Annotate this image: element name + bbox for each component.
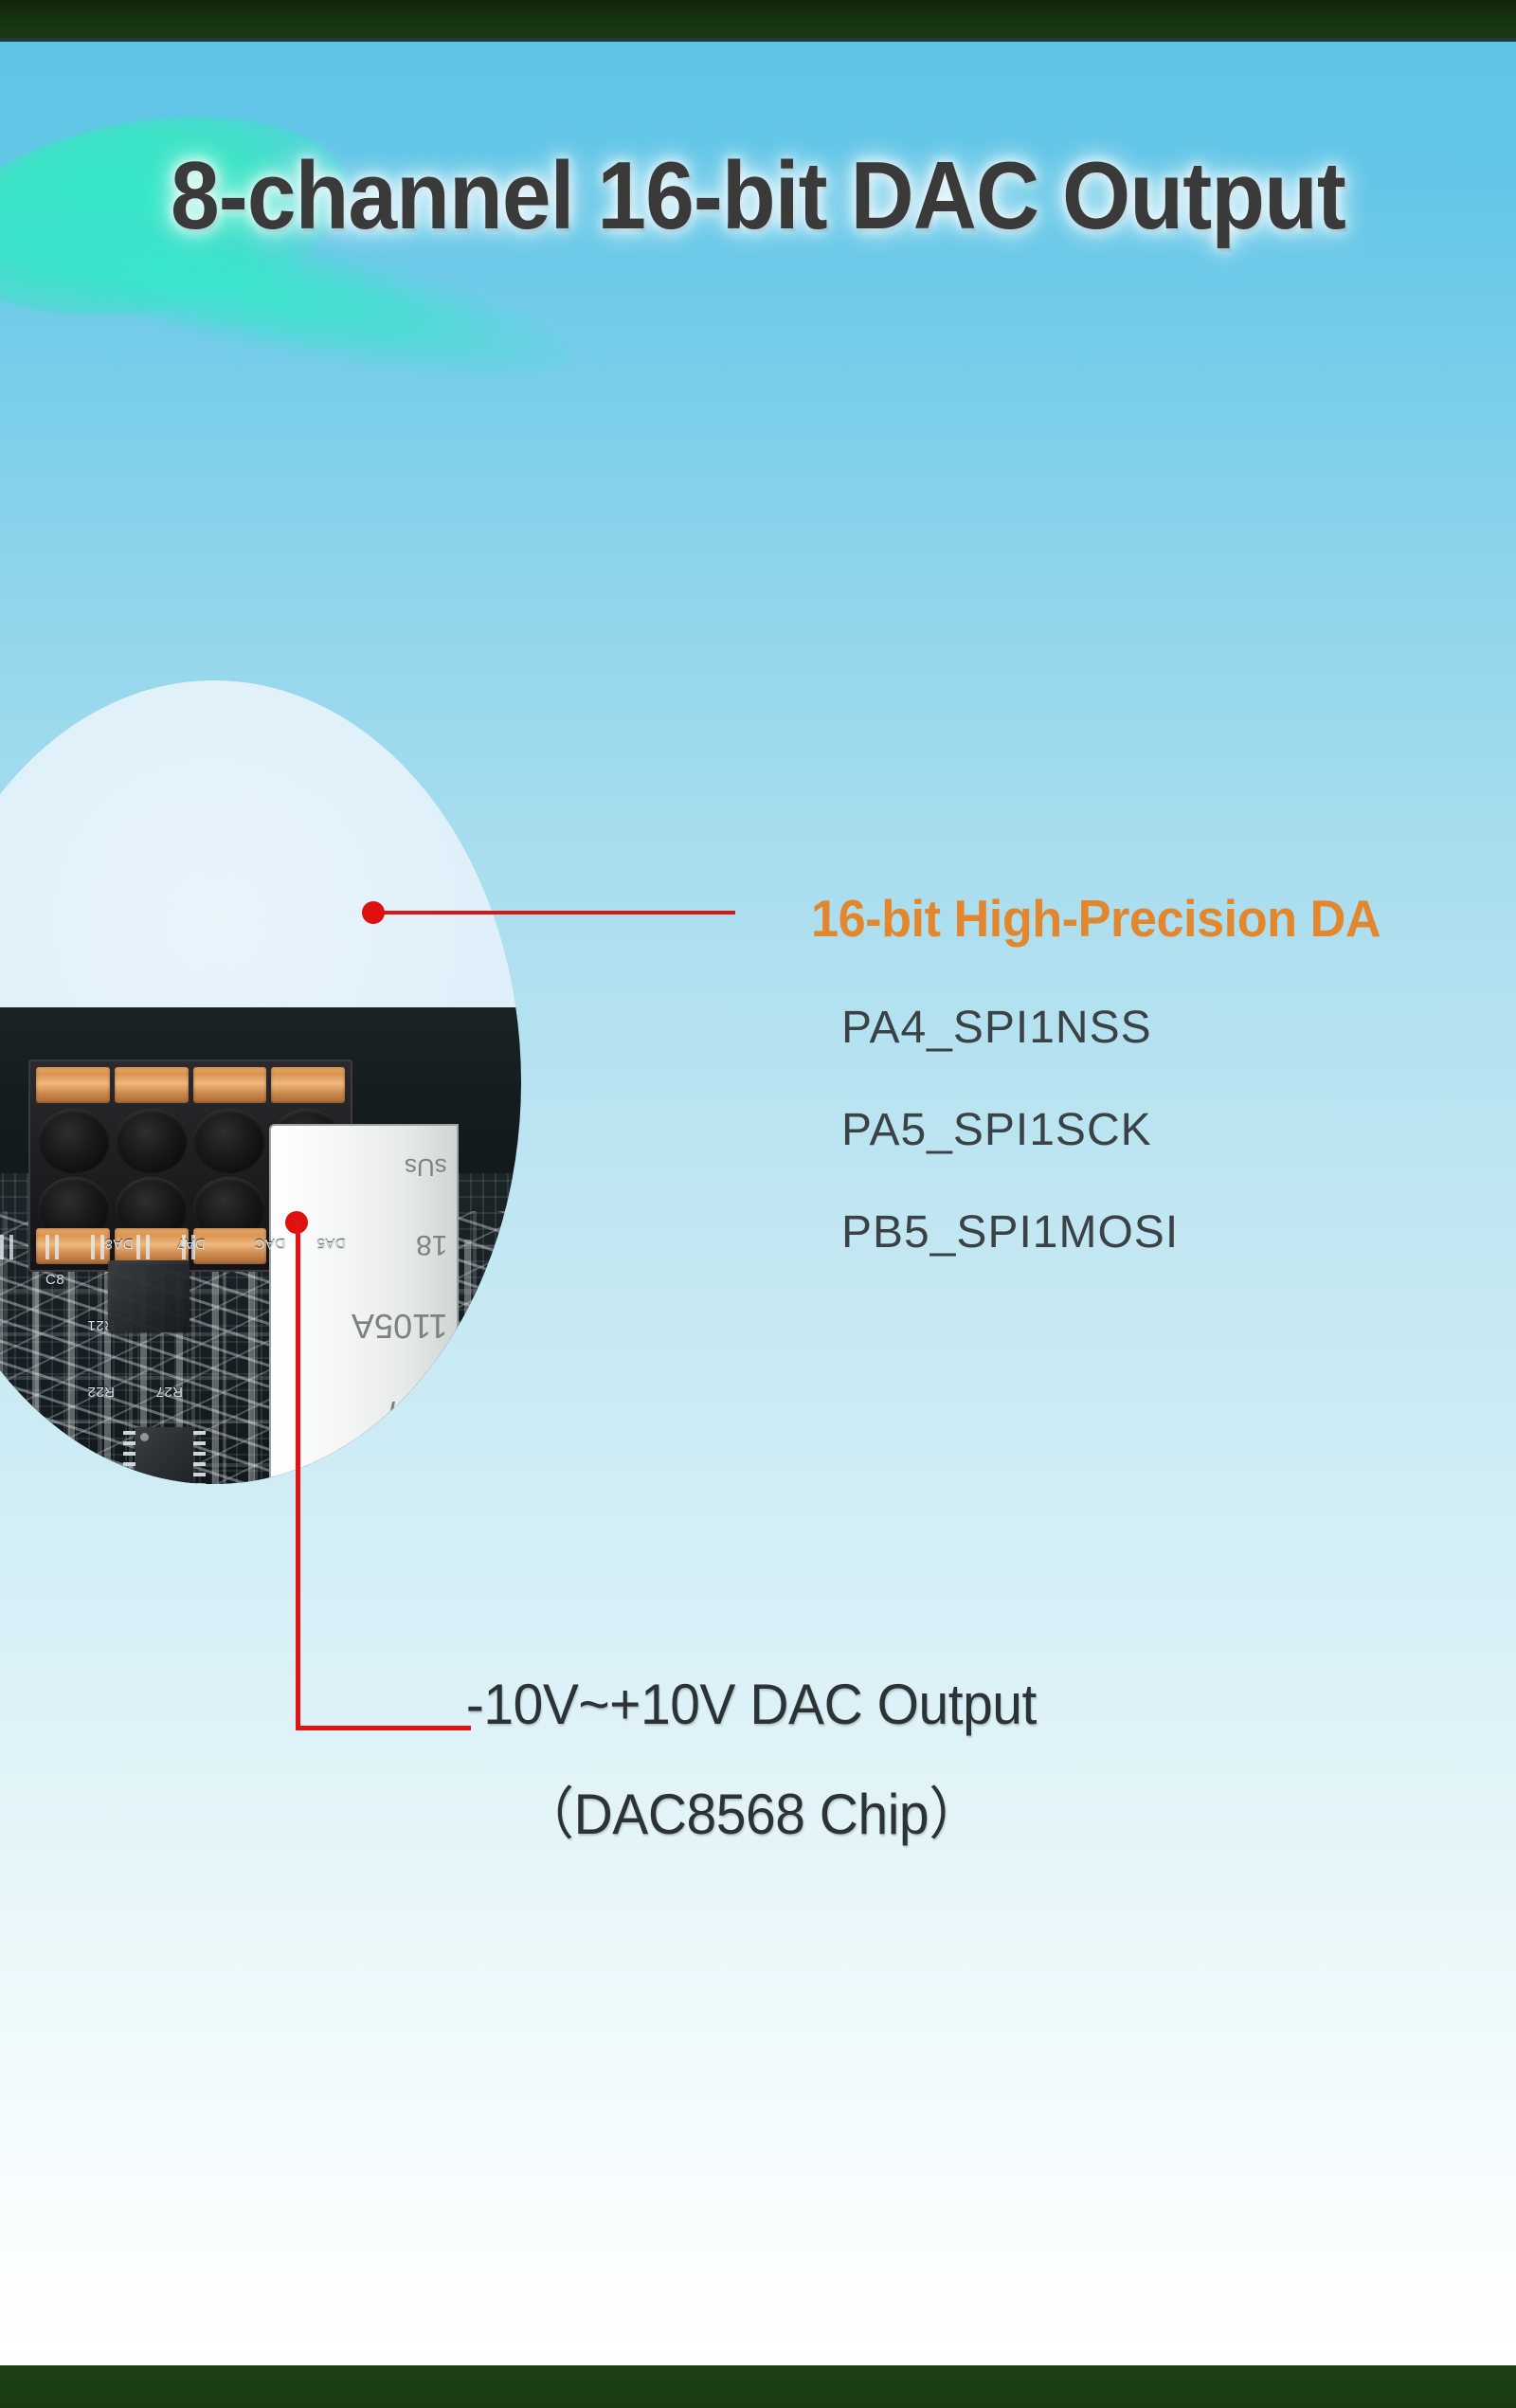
relay-label-line1: sUs: [405, 1152, 447, 1182]
caption-dac-output-range: -10V~+10V DAC Output: [38, 1672, 1478, 1737]
terminal-screw: [115, 1067, 189, 1103]
pcb-photo-circle: sUs 18 1105A Run PWROUT DA8 DA7 DAC DA5 …: [0, 680, 521, 1484]
silk-ref-designator: R27: [155, 1384, 183, 1400]
silk-ref-designator: C8: [45, 1272, 64, 1288]
caption-dac-chip-text: （DAC8568 Chip）: [520, 1768, 983, 1851]
smd-chip-soic: [108, 1260, 189, 1332]
silk-header-label: DA5: [316, 1236, 346, 1252]
terminal-wire-hole: [116, 1109, 188, 1173]
terminal-screw: [271, 1067, 345, 1103]
silk-header-label: DA7: [176, 1236, 206, 1252]
terminal-wire-hole: [38, 1109, 110, 1173]
promo-banner-page: 8-channel 16-bit DAC Output: [0, 0, 1516, 2408]
smd-chip-leads: [123, 1431, 135, 1484]
relay-label-line4: Run: [388, 1393, 447, 1430]
pin-label-pa5: PA5_SPI1SCK: [841, 1104, 1152, 1156]
top-band-divider: [0, 38, 1516, 42]
smd-chip-qfn: [0, 1401, 9, 1484]
relay-label-line2: 18: [416, 1228, 447, 1260]
relay-label-line3: 1105A: [352, 1306, 447, 1346]
terminal-screw: [36, 1067, 110, 1103]
silk-header-label: DA8: [104, 1236, 134, 1252]
dac8568-chip: [135, 1427, 193, 1484]
terminal-screw: [193, 1067, 267, 1103]
silk-header-label: DAC: [254, 1236, 285, 1252]
terminal-screw-row-top: [36, 1067, 345, 1103]
caption-dac-chip: （DAC8568 Chip）: [38, 1768, 1478, 1851]
terminal-wire-hole: [193, 1109, 265, 1173]
smd-chip-leads: [193, 1431, 206, 1484]
callout-anchor-dot: [362, 901, 385, 924]
page-title: 8-channel 16-bit DAC Output: [61, 142, 1455, 251]
callout-leader-line-horizontal: [375, 911, 735, 914]
pcb-photo: sUs 18 1105A Run PWROUT DA8 DA7 DAC DA5 …: [0, 680, 521, 1484]
pin-label-pb5: PB5_SPI1MOSI: [841, 1206, 1179, 1258]
callout-leader-line-vertical: [296, 1221, 300, 1730]
bottom-green-band: [0, 2365, 1516, 2408]
smd-chip-leads: [11, 1403, 25, 1484]
silk-ref-designator: R22: [87, 1384, 115, 1400]
pin-label-pa4: PA4_SPI1NSS: [841, 1002, 1152, 1054]
caption-dac-output-range-text: -10V~+10V DAC Output: [466, 1672, 1037, 1737]
callout-heading-precision-da: 16-bit High-Precision DA: [811, 888, 1381, 949]
top-green-band: [0, 0, 1516, 38]
